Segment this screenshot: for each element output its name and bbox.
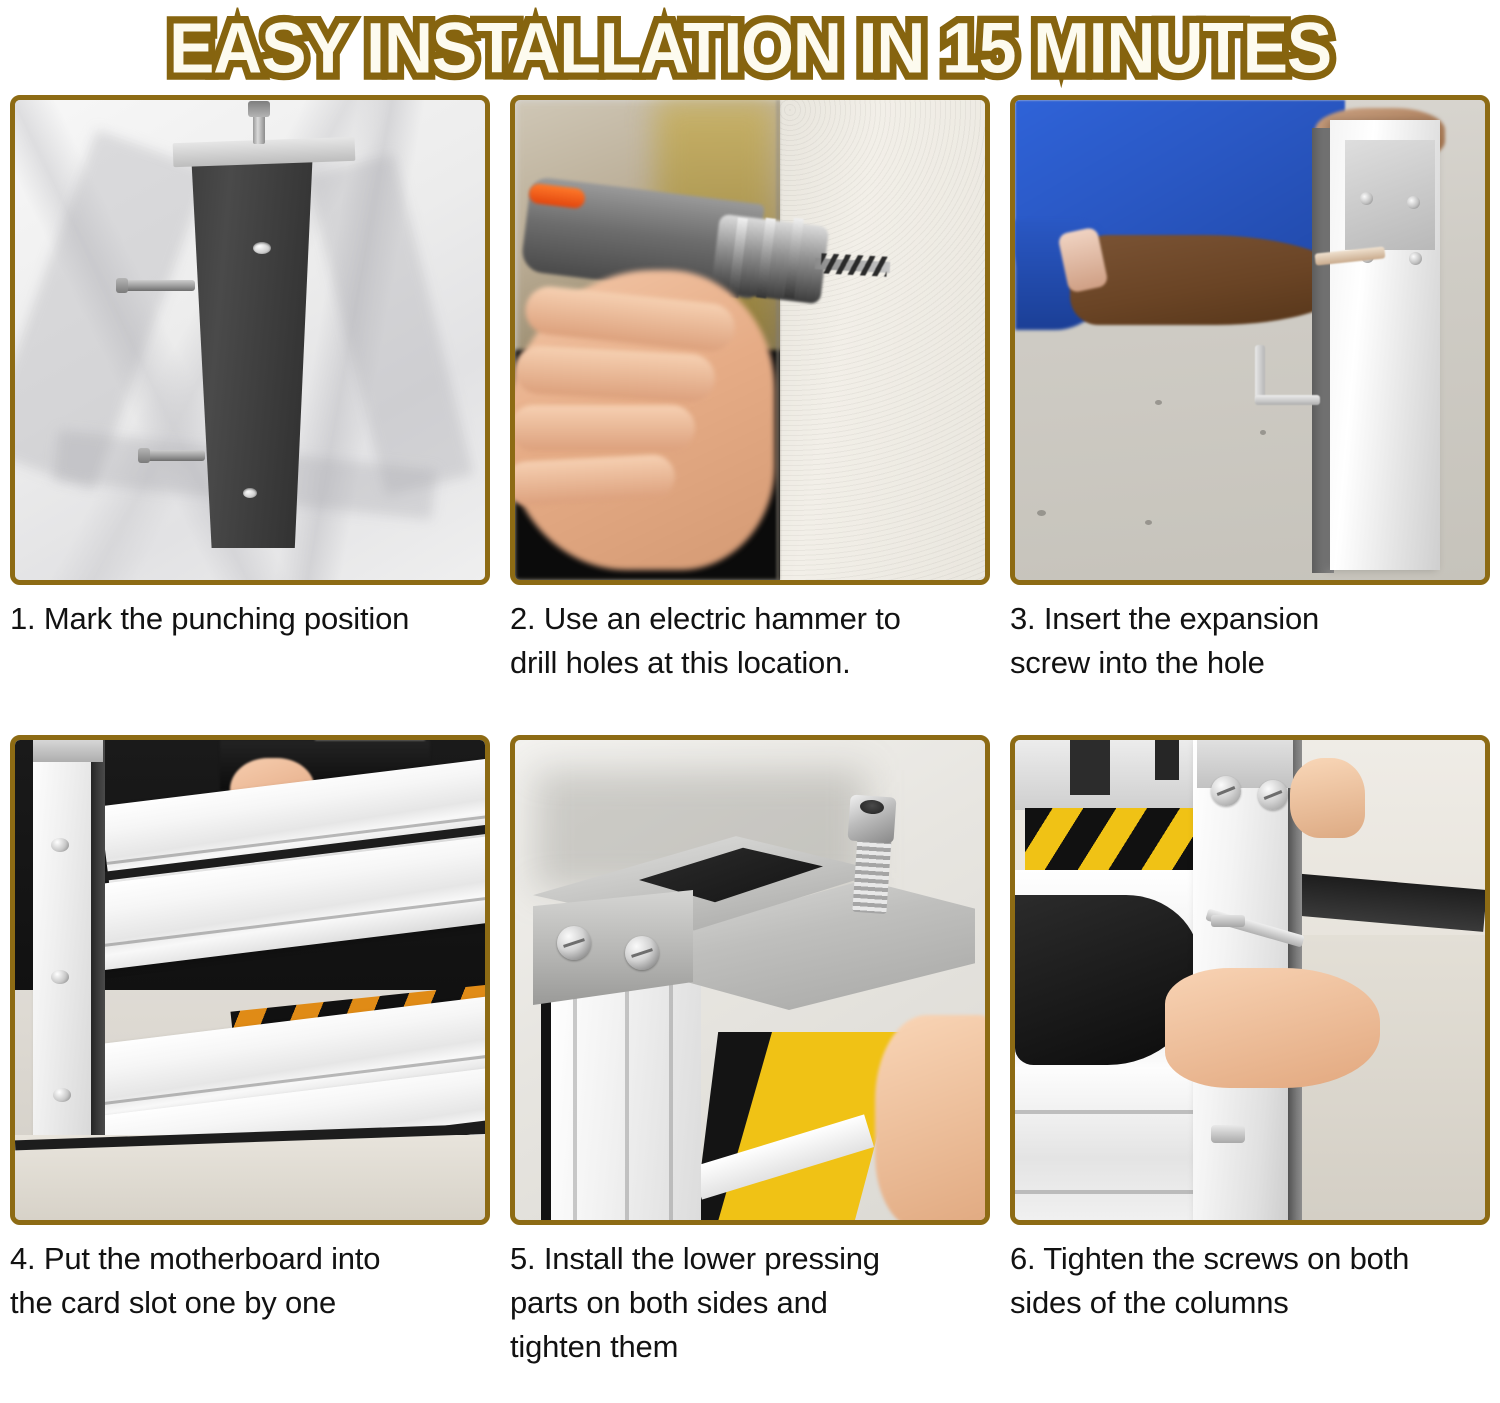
caption-line: parts on both sides and: [510, 1281, 980, 1325]
column-top-cap: [33, 740, 103, 762]
floor-speck: [1155, 400, 1162, 405]
step-5-caption: 5. Install the lower pressing parts on b…: [510, 1237, 980, 1387]
page-title: EASY INSTALLATION IN 15 MINUTES: [163, 12, 1338, 84]
step-card-4: 4. Put the motherboard into the card slo…: [0, 735, 500, 1387]
step-6-photo: [1010, 735, 1490, 1225]
step-4-photo: [10, 735, 490, 1225]
board-groove: [1015, 1110, 1210, 1114]
step-1-photo: [10, 95, 490, 585]
step-3-caption: 3. Insert the expansion screw into the h…: [1010, 597, 1480, 717]
step-3-photo: [1010, 95, 1490, 585]
punch-hole-mark-upper: [253, 242, 271, 254]
finger: [515, 405, 695, 451]
punch-hole-mark-lower: [243, 488, 257, 498]
caption-line: 5. Install the lower pressing: [510, 1237, 980, 1281]
step-4-caption: 4. Put the motherboard into the card slo…: [10, 1237, 480, 1387]
fingers-supporting-board: [875, 1015, 985, 1220]
column-screw-top-left: [1211, 776, 1241, 806]
caption-line: 4. Put the motherboard into: [10, 1237, 480, 1281]
expansion-screw: [1407, 196, 1420, 209]
step-6-caption: 6. Tighten the screws on both sides of t…: [1010, 1237, 1480, 1387]
finger: [515, 454, 676, 507]
caption-line: 1. Mark the punching position: [10, 597, 480, 641]
expansion-screw: [1409, 252, 1422, 265]
step-card-5: 5. Install the lower pressing parts on b…: [500, 735, 1000, 1387]
hazard-stripe-tape: [1025, 808, 1205, 870]
floor-speck: [1037, 510, 1046, 516]
post-top-bolt-head: [248, 101, 270, 117]
steps-row-2: 4. Put the motherboard into the card slo…: [0, 735, 1500, 1387]
header-banner: EASY INSTALLATION IN 15 MINUTES: [0, 0, 1500, 95]
step-card-1: 1. Mark the punching position: [0, 95, 500, 717]
caption-line: 3. Insert the expansion: [1010, 597, 1480, 641]
board-groove: [1015, 1190, 1210, 1194]
caption-line: sides of the columns: [1010, 1281, 1480, 1325]
protruding-bolt-lower: [147, 450, 205, 461]
hand-tightening-screw: [1165, 968, 1380, 1088]
caption-line: tighten them: [510, 1325, 980, 1369]
caption-line: the card slot one by one: [10, 1281, 480, 1325]
step-2-caption: 2. Use an electric hammer to drill holes…: [510, 597, 980, 717]
drill-bit-flutes: [821, 253, 888, 276]
lower-column-screw: [1211, 1125, 1245, 1143]
column-screw: [51, 838, 69, 852]
expansion-screw: [1360, 192, 1373, 205]
column-groove: [573, 976, 577, 1220]
column-groove: [669, 976, 673, 1220]
frame-dark-gap: [1070, 740, 1110, 795]
step-2-scene: [515, 100, 985, 580]
column-card-slot: [91, 740, 105, 1160]
caption-line: 2. Use an electric hammer to: [510, 597, 980, 641]
thumb-steadying-column: [1290, 758, 1365, 838]
upper-frame: [1015, 740, 1215, 810]
step-5-scene: [515, 740, 985, 1220]
protruding-bolt-upper: [125, 280, 195, 291]
column-groove: [625, 976, 629, 1220]
column-black-seal: [541, 980, 551, 1220]
allen-wrench-head: [1211, 915, 1245, 927]
caption-line: drill holes at this location.: [510, 641, 980, 685]
floor-speck: [1145, 520, 1152, 525]
column-screw: [51, 970, 69, 984]
step-card-6: 6. Tighten the screws on both sides of t…: [1000, 735, 1500, 1387]
step-2-photo: [510, 95, 990, 585]
column-screw: [53, 1088, 71, 1102]
wall-edge: [776, 100, 780, 580]
caption-line: 6. Tighten the screws on both: [1010, 1237, 1480, 1281]
step-3-scene: [1015, 100, 1485, 580]
white-column: [551, 976, 701, 1220]
column-top-plate: [1345, 140, 1435, 250]
step-6-scene: [1015, 740, 1485, 1220]
worker-forearm: [1070, 235, 1350, 325]
frame-dark-gap: [1155, 740, 1179, 780]
allen-wrench-short-arm: [1255, 395, 1320, 405]
bracket-screw-right: [625, 936, 659, 970]
step-card-2: 2. Use an electric hammer to drill holes…: [500, 95, 1000, 717]
column-screw-top-right: [1258, 780, 1288, 810]
step-4-scene: [15, 740, 485, 1220]
steps-row-1: 1. Mark the punching position: [0, 95, 1500, 717]
steps-grid: 1. Mark the punching position: [0, 95, 1500, 1387]
textured-wall: [780, 100, 985, 580]
floor-speck: [1260, 430, 1266, 435]
step-card-3: 3. Insert the expansion screw into the h…: [1000, 95, 1500, 717]
threaded-bolt-shaft: [852, 834, 891, 914]
bracket-screw-left: [557, 926, 591, 960]
step-1-scene: [15, 100, 485, 580]
caption-line: screw into the hole: [1010, 641, 1480, 685]
step-5-photo: [510, 735, 990, 1225]
step-1-caption: 1. Mark the punching position: [10, 597, 480, 717]
